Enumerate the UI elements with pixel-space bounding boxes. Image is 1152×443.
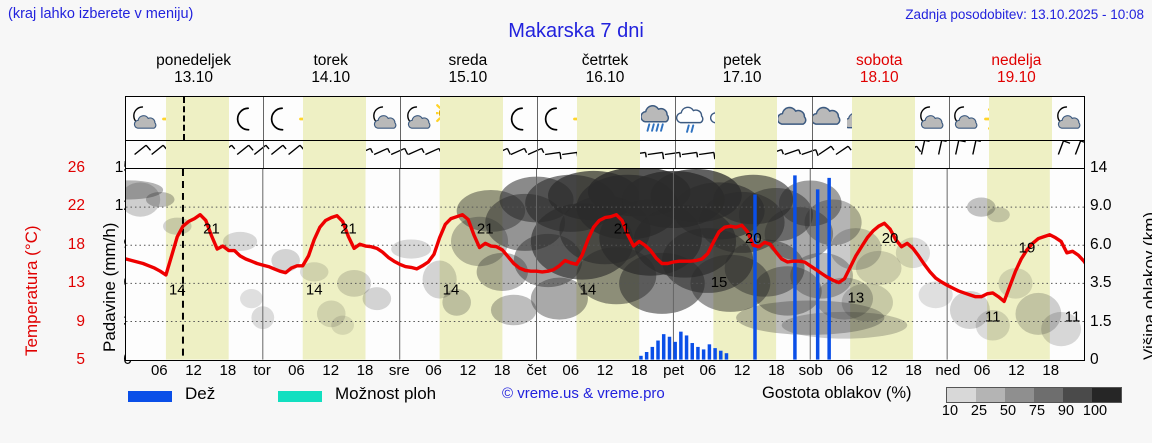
cloudheight-tick-1.5: 1.5 — [1090, 313, 1112, 331]
cloudheight-tick-0: 0 — [1090, 351, 1099, 369]
day-separator-3 — [537, 97, 538, 140]
svg-text:15: 15 — [711, 274, 728, 291]
temperature-axis-title: Temperatura (°C) — [22, 225, 42, 356]
weather-icon-moon — [537, 97, 571, 140]
cloud-density-step-25 — [976, 388, 1005, 402]
day-separator-1 — [263, 97, 264, 140]
daylight-stripe-4 — [715, 97, 778, 140]
daylight-stripe-0 — [166, 141, 229, 168]
daylight-stripe-3 — [577, 141, 640, 168]
cloud-density-label-100: 100 — [1083, 403, 1107, 419]
svg-text:21: 21 — [614, 221, 631, 238]
x-tick-06-16: 06 — [700, 362, 717, 379]
daylight-stripe-5 — [852, 97, 915, 140]
cloud-density-step-75 — [1034, 388, 1063, 402]
x-tick-ned-23: ned — [935, 362, 960, 379]
weather-icon-cloud — [776, 97, 810, 140]
cloud-density-label-10: 10 — [942, 403, 958, 419]
svg-text:21: 21 — [203, 221, 220, 238]
daylight-stripe-5 — [852, 141, 915, 168]
last-updated: Zadnja posodobitev: 13.10.2025 - 10:08 — [905, 7, 1144, 22]
svg-text:11: 11 — [1065, 308, 1081, 325]
day-name: četrtek — [536, 52, 673, 69]
day-separator-4 — [675, 97, 676, 140]
legend: Dež Možnost ploh © vreme.us & vreme.pro … — [0, 386, 1152, 426]
day-separator-2 — [400, 97, 401, 140]
temperature-tick-5: 5 — [76, 351, 85, 369]
svg-text:14: 14 — [580, 282, 597, 299]
x-tick-12-25: 12 — [1008, 362, 1025, 379]
svg-text:14: 14 — [169, 282, 186, 299]
x-tick-sre-7: sre — [389, 362, 410, 379]
x-tick-06-20: 06 — [837, 362, 854, 379]
day-header-sobota: sobota18.10 — [811, 52, 948, 94]
day-header-nedelja: nedelja19.10 — [948, 52, 1085, 94]
precipitation-axis-title: Padavine (mm/h) — [100, 223, 120, 352]
day-date: 14.10 — [262, 69, 399, 86]
cloud-density-legend-title: Gostota oblakov (%) — [762, 384, 911, 403]
day-date: 19.10 — [948, 69, 1085, 86]
weather-icon-cloud — [810, 97, 844, 140]
svg-text:21: 21 — [340, 221, 357, 238]
daylight-stripe-2 — [440, 141, 503, 168]
cloud-density-label-25: 25 — [971, 403, 987, 419]
day-header-petek: petek17.10 — [674, 52, 811, 94]
cloud-density-step-100 — [1092, 388, 1121, 402]
weather-icon-moon-cloud — [400, 97, 434, 140]
svg-text:20: 20 — [745, 230, 762, 247]
x-tick-18-26: 18 — [1042, 362, 1059, 379]
x-tick-18-10: 18 — [494, 362, 511, 379]
temperature-tick-26: 26 — [68, 159, 85, 177]
svg-text:19: 19 — [1019, 240, 1036, 257]
day-name: ponedeljek — [125, 52, 262, 69]
x-tick-18-18: 18 — [768, 362, 785, 379]
cloud-density-label-50: 50 — [1000, 403, 1016, 419]
day-separator-5 — [812, 141, 813, 168]
daylight-stripe-4 — [715, 141, 778, 168]
plot-frame: 142114211421142115201320111911 — [125, 96, 1085, 361]
day-name: sreda — [399, 52, 536, 69]
day-date: 16.10 — [536, 69, 673, 86]
x-tick-sob-19: sob — [799, 362, 823, 379]
x-tick-12-17: 12 — [734, 362, 751, 379]
x-tick-18-14: 18 — [631, 362, 648, 379]
cloudheight-tick-14: 14 — [1090, 159, 1107, 177]
current-time-line — [183, 97, 185, 140]
x-tick-12-21: 12 — [871, 362, 888, 379]
x-tick-tor-3: tor — [253, 362, 271, 379]
daylight-stripe-3 — [577, 97, 640, 140]
copyright-link[interactable]: © vreme.us & vreme.pro — [502, 385, 665, 402]
cloud-density-step-50 — [1005, 388, 1034, 402]
weather-icon-moon — [229, 97, 263, 140]
x-tick-06-24: 06 — [974, 362, 991, 379]
daylight-stripe-6 — [989, 97, 1052, 140]
cloudheight-tick-6.0: 6.0 — [1090, 236, 1112, 254]
day-name: sobota — [811, 52, 948, 69]
x-tick-12-9: 12 — [460, 362, 477, 379]
x-tick-12-1: 12 — [185, 362, 202, 379]
x-tick-12-13: 12 — [597, 362, 614, 379]
rain-legend-label: Dež — [185, 384, 215, 404]
svg-text:20: 20 — [882, 230, 899, 247]
x-tick-06-12: 06 — [562, 362, 579, 379]
cloud-density-scale — [946, 387, 1122, 403]
rain-legend-swatch — [128, 391, 172, 402]
svg-text:21: 21 — [477, 221, 494, 238]
day-separator-3 — [537, 141, 538, 168]
weather-icon-moon-cloud — [1050, 97, 1084, 140]
x-tick-pet-15: pet — [663, 362, 684, 379]
x-tick-06-4: 06 — [288, 362, 305, 379]
day-separator-6 — [949, 141, 950, 168]
cloudheight-tick-3.5: 3.5 — [1090, 274, 1112, 292]
svg-text:11: 11 — [985, 308, 1001, 325]
x-tick-06-0: 06 — [151, 362, 168, 379]
x-tick-12-5: 12 — [322, 362, 339, 379]
x-tick-čet-11: čet — [526, 362, 546, 379]
graph-svg: 142114211421142115201320111911 — [126, 169, 1084, 360]
weather-icon-moon — [502, 97, 536, 140]
weather-icon-cloud-rain — [674, 97, 708, 140]
svg-text:14: 14 — [443, 282, 460, 299]
day-name: petek — [674, 52, 811, 69]
weather-icon-moon-cloud — [947, 97, 981, 140]
temperature-tick-13: 13 — [68, 274, 85, 292]
cloudheight-tick-9.0: 9.0 — [1090, 197, 1112, 215]
daylight-stripe-0 — [166, 97, 229, 140]
cloud-density-step-90 — [1063, 388, 1092, 402]
day-name: torek — [262, 52, 399, 69]
day-header-ponedeljek: ponedeljek13.10 — [125, 52, 262, 94]
day-separator-4 — [675, 141, 676, 168]
day-header-sreda: sreda15.10 — [399, 52, 536, 94]
day-date: 15.10 — [399, 69, 536, 86]
day-separator-5 — [812, 97, 813, 140]
weather-icon-moon — [263, 97, 297, 140]
cloud-density-scale-labels: 1025507590100 — [938, 403, 1138, 421]
cloud-density-label-75: 75 — [1029, 403, 1045, 419]
daylight-stripe-2 — [440, 97, 503, 140]
x-axis-ticks: 061218tor061218sre061218čet061218pet0612… — [125, 362, 1085, 382]
daylight-stripe-6 — [989, 141, 1052, 168]
x-tick-18-6: 18 — [357, 362, 374, 379]
day-separator-6 — [949, 97, 950, 140]
temperature-tick-22: 22 — [68, 197, 85, 215]
svg-text:14: 14 — [306, 282, 323, 299]
day-separator-2 — [400, 141, 401, 168]
showers-legend-swatch — [278, 391, 322, 402]
weather-icon-moon-cloud — [366, 97, 400, 140]
day-header-row: ponedeljek13.10torek14.10sreda15.10četrt… — [125, 52, 1085, 94]
cloud-density-label-90: 90 — [1058, 403, 1074, 419]
cloud-density-step-10 — [947, 388, 976, 402]
daylight-stripe-1 — [303, 97, 366, 140]
cloudheight-axis-title: Višina oblakov (km) — [1140, 212, 1152, 360]
day-name: nedelja — [948, 52, 1085, 69]
day-date: 13.10 — [125, 69, 262, 86]
meteogram: (kraj lahko izberete v meniju) Makarska … — [0, 0, 1152, 443]
page-title: Makarska 7 dni — [0, 20, 1152, 43]
day-date: 17.10 — [674, 69, 811, 86]
day-header-torek: torek14.10 — [262, 52, 399, 94]
showers-legend-label: Možnost ploh — [335, 384, 436, 404]
x-tick-18-2: 18 — [220, 362, 237, 379]
day-header-četrtek: četrtek16.10 — [536, 52, 673, 94]
daylight-stripe-1 — [303, 141, 366, 168]
day-separator-1 — [263, 141, 264, 168]
x-tick-06-8: 06 — [425, 362, 442, 379]
temperature-tick-18: 18 — [68, 236, 85, 254]
wind-barb-band — [126, 141, 1084, 169]
weather-icon-moon-cloud — [126, 97, 160, 140]
weather-icon-cloud-rain-heavy — [639, 97, 673, 140]
graph-band: 142114211421142115201320111911 — [126, 169, 1084, 360]
temperature-tick-9: 9 — [76, 313, 85, 331]
x-tick-18-22: 18 — [905, 362, 922, 379]
svg-text:13: 13 — [848, 289, 865, 306]
weather-icon-moon-cloud — [913, 97, 947, 140]
weather-icon-band — [126, 97, 1084, 141]
day-date: 18.10 — [811, 69, 948, 86]
